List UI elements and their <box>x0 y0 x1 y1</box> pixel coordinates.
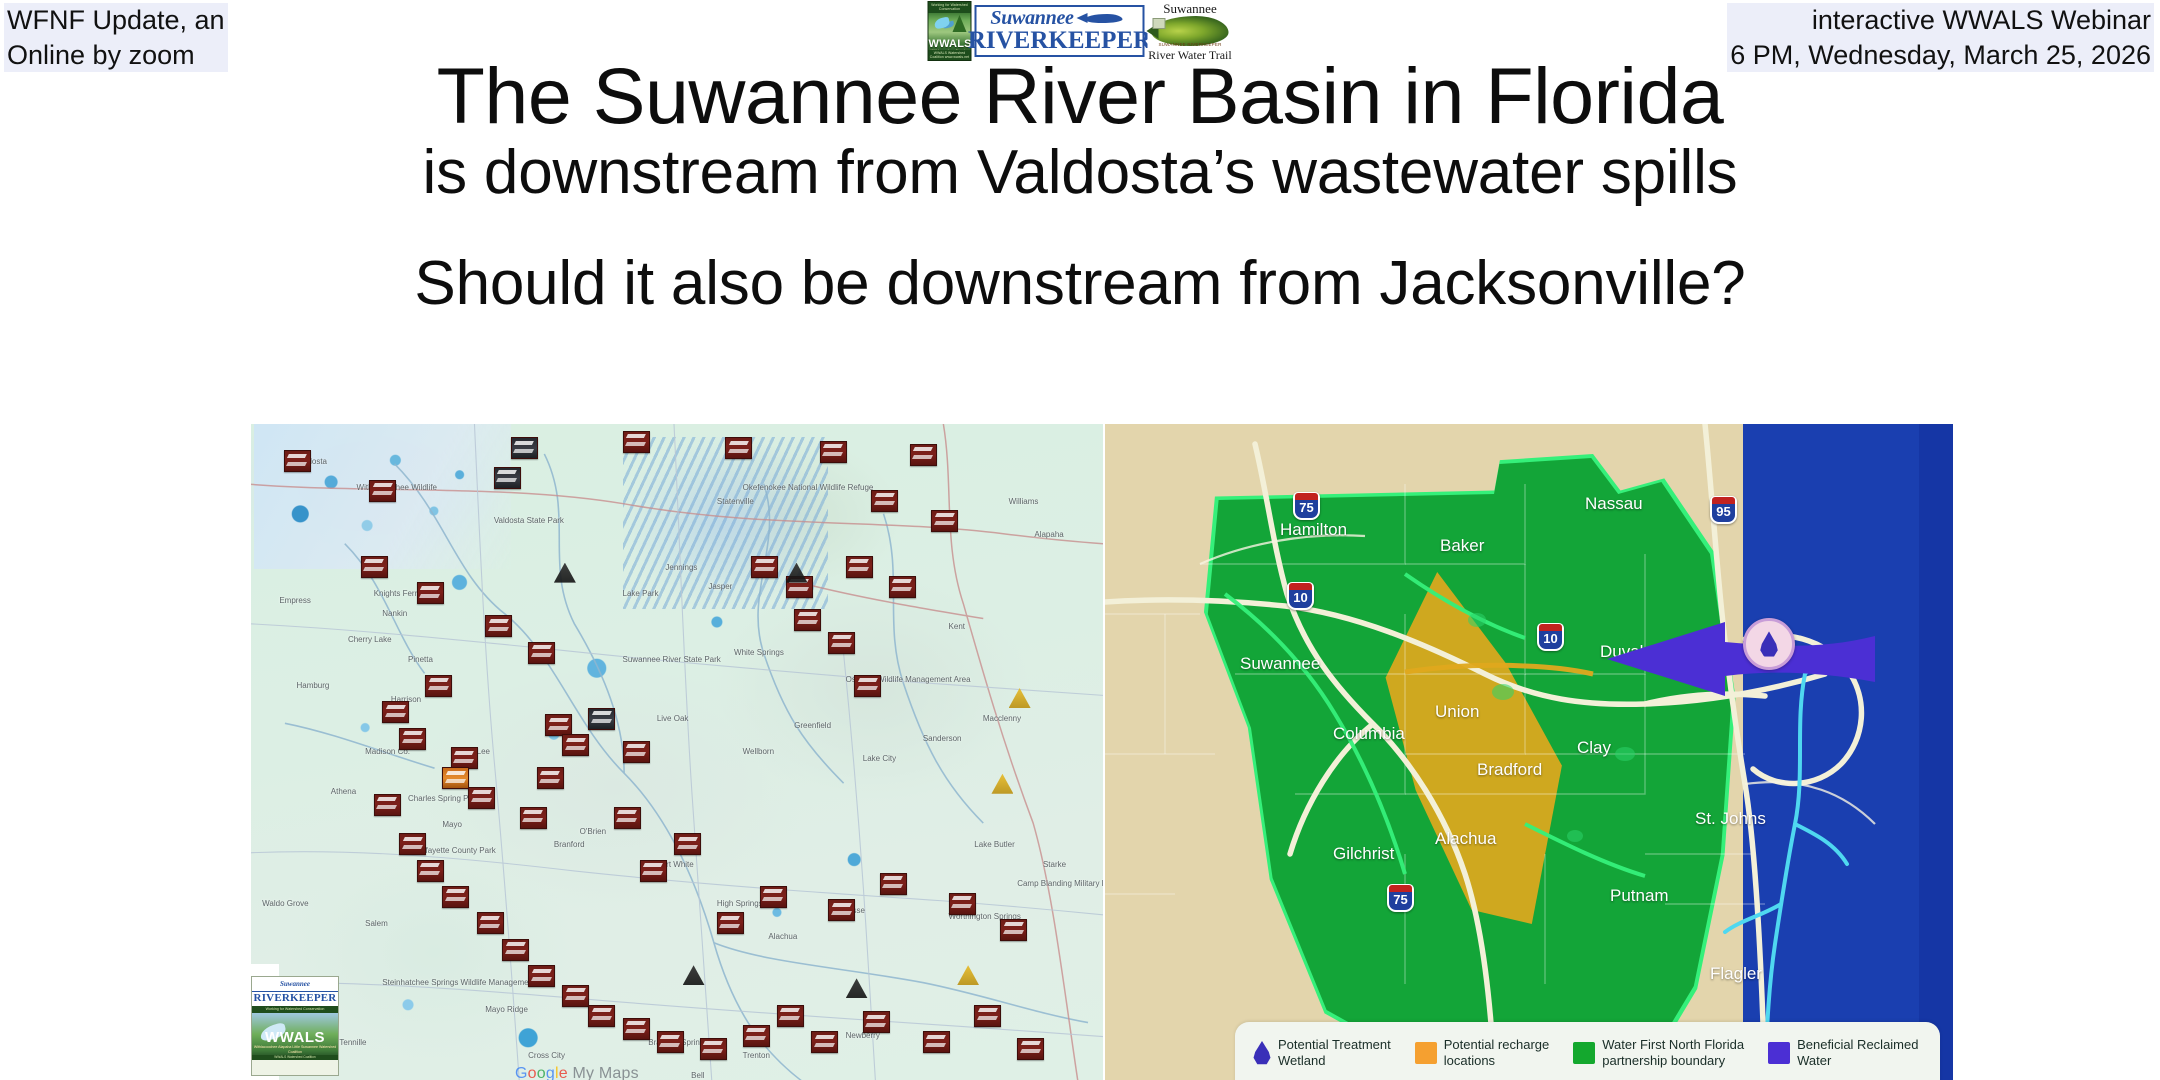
riverkeeper-word-suwannee: Suwannee <box>990 8 1073 28</box>
fish-icon <box>1077 12 1129 25</box>
county-label-flagler: Flagler <box>1710 964 1762 984</box>
county-label-hamilton: Hamilton <box>1280 520 1347 540</box>
legend-label-reclaimed: Beneficial Reclaimed Water <box>1797 1037 1918 1069</box>
county-label-alachua: Alachua <box>1435 829 1496 849</box>
county-label-clay: Clay <box>1577 738 1611 758</box>
county-label-suwannee: Suwannee <box>1240 654 1320 674</box>
header-right-line-1: interactive WWALS Webinar <box>1727 3 2154 38</box>
overlay-suwannee-text: Suwannee <box>252 977 338 992</box>
slide-root: WFNF Update, an Online by zoom interacti… <box>0 0 2160 1080</box>
title-line-2: is downstream from Valdosta’s wastewater… <box>0 135 2160 211</box>
spill-site-markers <box>245 424 1103 1080</box>
county-label-columbia: Columbia <box>1333 724 1405 744</box>
legend-item-treatment-wetland: Potential Treatment Wetland <box>1253 1037 1391 1069</box>
attribution-tail: My Maps <box>568 1065 639 1080</box>
beneficial-reclaimed-water-arrow <box>1605 620 1875 698</box>
overlay-artwork: WWALS Withlacoochee Alapaha Little Suwan… <box>252 1013 338 1060</box>
left-map-spill-sites[interactable]: ValdostaWithlacoochee WildlifeValdosta S… <box>245 424 1105 1080</box>
riverkeeper-top-row: Suwannee <box>981 8 1139 28</box>
overlay-band-text: Working for Watershed Conservation <box>252 1006 338 1013</box>
potential-treatment-wetland-marker[interactable] <box>1743 618 1795 670</box>
legend-item-reclaimed: Beneficial Reclaimed Water <box>1768 1037 1918 1069</box>
interstate-shield-10-west: 10 <box>1287 582 1314 610</box>
county-label-baker: Baker <box>1440 536 1484 556</box>
water-drop-icon <box>1760 631 1779 657</box>
title-block: The Suwannee River Basin in Florida is d… <box>0 56 2160 315</box>
interstate-shield-10-east: 10 <box>1537 623 1564 651</box>
orange-square-icon <box>1415 1042 1437 1064</box>
legend-label-partnership: Water First North Florida partnership bo… <box>1602 1037 1744 1069</box>
legend-item-partnership: Water First North Florida partnership bo… <box>1573 1037 1744 1069</box>
interstate-shield-75-north: 75 <box>1293 492 1320 520</box>
map-row: ValdostaWithlacoochee WildlifeValdosta S… <box>245 424 1955 1080</box>
legend-item-recharge: Potential recharge locations <box>1415 1037 1550 1069</box>
county-label-putnam: Putnam <box>1610 886 1669 906</box>
cypress-tree-icon <box>953 15 967 32</box>
county-label-gilchrist: Gilchrist <box>1333 844 1394 864</box>
right-map-wfnf[interactable]: Hamilton Baker Nassau Suwannee Duval Col… <box>1105 424 1953 1080</box>
heron-icon <box>934 17 951 30</box>
overlay-foot: WWALS Watershed Coalition <box>252 1055 338 1060</box>
legend-label-treatment-wetland: Potential Treatment Wetland <box>1278 1037 1391 1069</box>
county-label-bradford: Bradford <box>1477 760 1542 780</box>
suwannee-riverkeeper-logo: Suwannee RIVERKEEPER <box>975 5 1145 57</box>
riverkeeper-word-riverkeeper: RIVERKEEPER <box>968 28 1151 53</box>
legend-label-recharge: Potential recharge locations <box>1444 1037 1550 1069</box>
overlay-caption: Withlacoochee Alapaha Little Suwannee Wa… <box>252 1045 338 1055</box>
county-label-st-johns: St. Johns <box>1695 809 1766 829</box>
right-map-overlays <box>1105 424 1953 1080</box>
trail-line-1: Suwannee <box>1148 2 1233 15</box>
trail-mid-caption: SUWANNEE RIVERKEEPER <box>1148 42 1233 47</box>
water-drop-icon <box>1253 1041 1271 1065</box>
header-left-line-1: WFNF Update, an <box>4 3 228 38</box>
green-square-icon <box>1573 1042 1595 1064</box>
trail-swatch-icon <box>1153 18 1166 29</box>
wwals-badge-top-caption: Working for Watershed Conservation <box>929 2 971 13</box>
interstate-shield-95: 95 <box>1710 496 1737 524</box>
county-label-nassau: Nassau <box>1585 494 1643 514</box>
county-label-union: Union <box>1435 702 1479 722</box>
google-my-maps-attribution[interactable]: Google My Maps <box>515 1065 639 1080</box>
overlay-riverkeeper-text: RIVERKEEPER <box>252 992 338 1006</box>
title-line-1: The Suwannee River Basin in Florida <box>0 56 2160 135</box>
purple-square-icon <box>1768 1042 1790 1064</box>
interstate-shield-75-south: 75 <box>1387 884 1414 912</box>
overlay-wwals-wordmark: WWALS <box>252 1029 338 1046</box>
right-map-legend: Potential Treatment Wetland Potential re… <box>1235 1022 1940 1080</box>
left-map-wwals-logo-overlay: Suwannee RIVERKEEPER Working for Watersh… <box>251 976 339 1076</box>
title-line-3: Should it also be downstream from Jackso… <box>0 253 2160 315</box>
